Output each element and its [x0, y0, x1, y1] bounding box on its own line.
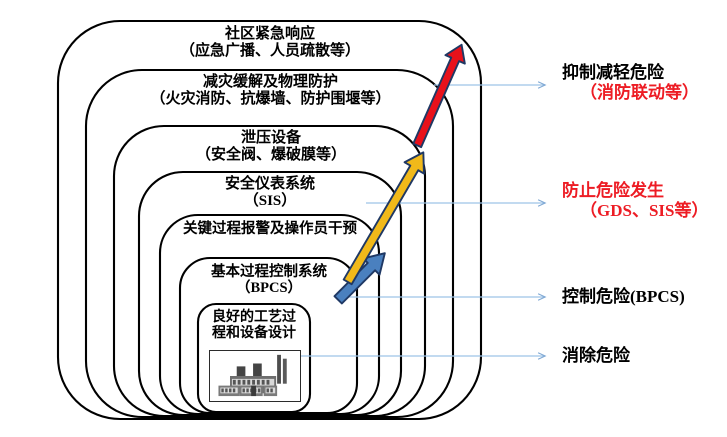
diagram-canvas: 社区紧急响应 （应急广播、人员疏散等） 减灾缓解及物理防护 （火灾消防、抗爆墙、… [0, 0, 727, 437]
layer-label-0: 社区紧急响应 （应急广播、人员疏散等） [120, 26, 420, 60]
side-label-0-line2: （消防联动等） [562, 83, 699, 103]
layer-3-line1: 安全仪表系统 [225, 176, 315, 192]
layer-4-line1: 关键过程报警及操作员干预 [183, 221, 357, 237]
layer-3-line2: （SIS） [148, 193, 392, 210]
layer-label-1: 减灾缓解及物理防护 （火灾消防、抗爆墙、防护围堰等） [113, 74, 428, 108]
layer-2-line2: （安全阀、爆破膜等） [133, 147, 409, 164]
factory-illustration [209, 350, 301, 402]
side-label-3: 消除危险 [562, 346, 630, 366]
layer-1-line2: （火灾消防、抗爆墙、防护围堰等） [113, 91, 428, 108]
side-label-3-line1: 消除危险 [562, 346, 630, 366]
side-label-0: 抑制减轻危险 （消防联动等） [562, 63, 699, 102]
layer-label-4: 关键过程报警及操作员干预 [155, 221, 385, 237]
layer-label-3: 安全仪表系统 （SIS） [148, 176, 392, 210]
layer-5-line1: 基本过程控制系统 [211, 264, 327, 280]
layer-label-2: 泄压设备 （安全阀、爆破膜等） [133, 130, 409, 164]
layer-5-line2: （BPCS） [178, 280, 360, 296]
layer-0-line1: 社区紧急响应 [225, 26, 315, 42]
layer-label-6: 良好的工艺过 程和设备设计 [200, 310, 308, 341]
side-label-2: 控制危险(BPCS) [562, 287, 685, 307]
side-label-1: 防止危险发生 （GDS、SIS等） [562, 181, 708, 220]
layer-6-line1: 良好的工艺过 [212, 310, 296, 325]
layer-0-line2: （应急广播、人员疏散等） [120, 43, 420, 60]
side-label-1-line1: 防止危险发生 [562, 181, 708, 201]
layer-6-line2: 程和设备设计 [200, 326, 308, 342]
side-label-1-line2: （GDS、SIS等） [562, 201, 708, 221]
factory-icon [210, 351, 300, 401]
side-label-2-line1: 控制危险(BPCS) [562, 287, 685, 307]
layer-label-5: 基本过程控制系统 （BPCS） [178, 264, 360, 296]
layer-1-line1: 减灾缓解及物理防护 [203, 74, 338, 90]
layer-2-line1: 泄压设备 [241, 130, 301, 146]
side-label-0-line1: 抑制减轻危险 [562, 63, 699, 83]
